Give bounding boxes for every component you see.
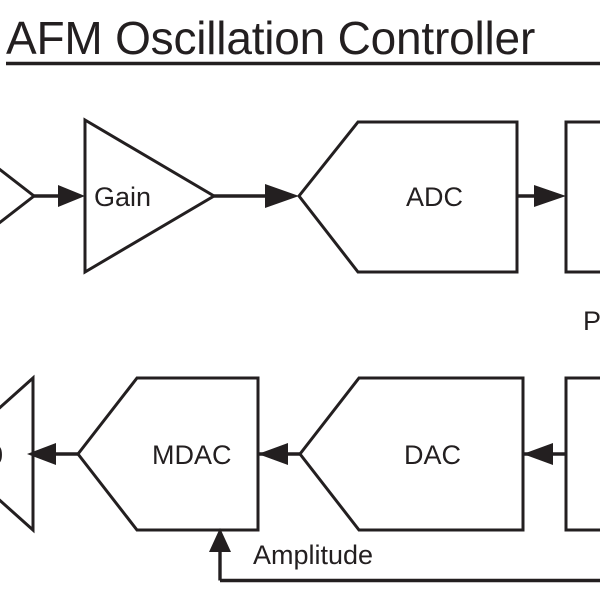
- arrowhead-gain-to-adc: [265, 184, 299, 208]
- top-right-block[interactable]: [566, 122, 600, 272]
- block-diagram: AFM Oscillation Controller Gain ADC P 0: [0, 0, 600, 600]
- arrowhead-dac-to-mdac: [258, 443, 288, 465]
- dac-block-label: DAC: [404, 440, 461, 470]
- right-edge-partial-label: P: [583, 306, 600, 336]
- arrowhead-amplitude-to-mdac: [209, 528, 231, 552]
- bottom-right-block[interactable]: [566, 378, 600, 530]
- adc-block-label: ADC: [406, 182, 463, 212]
- gain-block-label: Gain: [94, 182, 151, 212]
- arrowhead-adc-to-right-block: [534, 185, 566, 207]
- input-triangle-block[interactable]: [0, 134, 34, 258]
- arrowhead-input-to-gain: [58, 185, 85, 207]
- output-triangle-label: 0: [0, 440, 3, 470]
- figure-canvas: AFM Oscillation Controller Gain ADC P 0: [0, 0, 600, 600]
- page-title: AFM Oscillation Controller: [6, 12, 535, 64]
- mdac-block-label: MDAC: [152, 440, 232, 470]
- amplitude-label: Amplitude: [253, 540, 373, 570]
- arrowhead-right-block-to-dac: [523, 443, 553, 465]
